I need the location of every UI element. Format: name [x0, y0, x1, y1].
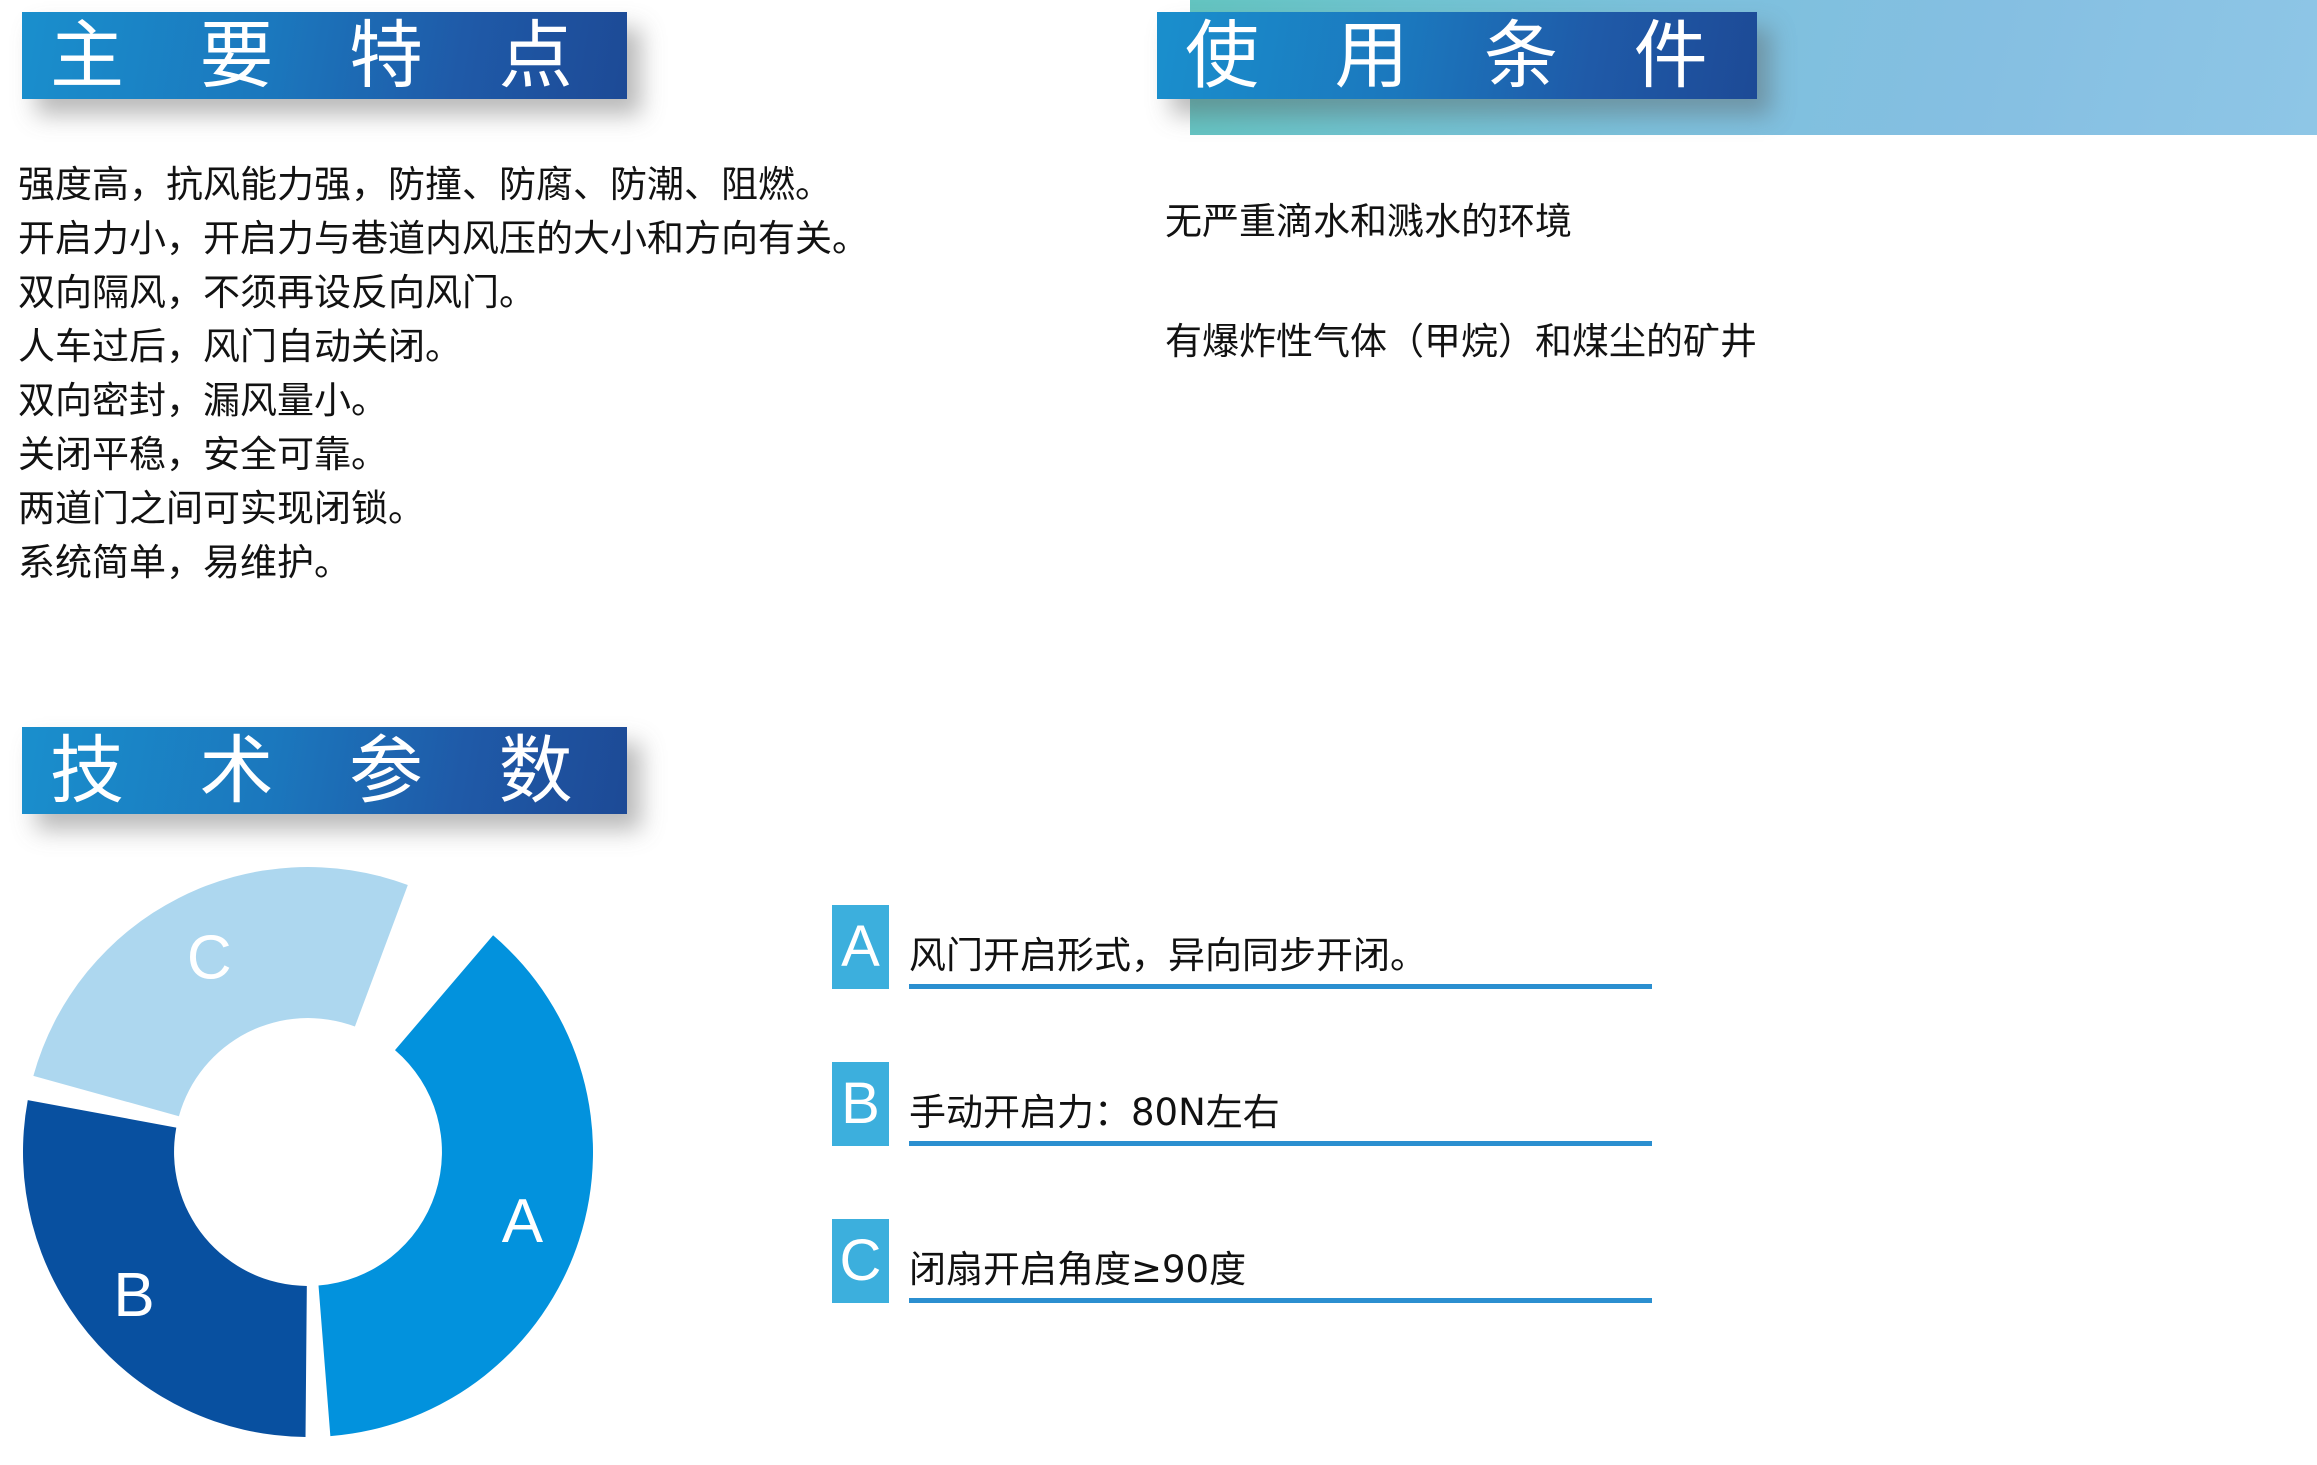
conditions-list: 无严重滴水和溅水的环境 有爆炸性气体（甲烷）和煤尘的矿井 — [1165, 198, 2165, 366]
section-header-conditions: 使 用 条 件 — [1157, 12, 1757, 99]
feature-item: 两道门之间可实现闭锁。 — [18, 482, 1018, 536]
legend-body-b: 手动开启力：80N左右 — [909, 1062, 1652, 1146]
feature-item: 双向密封，漏风量小。 — [18, 374, 1018, 428]
section-header-features: 主 要 特 点 — [22, 12, 627, 99]
section-header-features-label: 主 要 特 点 — [22, 19, 599, 93]
donut-segment-label-a: A — [502, 1187, 544, 1256]
legend-body-c: 闭扇开启角度≥90度 — [909, 1219, 1652, 1303]
donut-segment-label-b: B — [113, 1261, 154, 1330]
legend-badge-c: C — [832, 1219, 889, 1303]
section-header-parameters-label: 技 术 参 数 — [22, 734, 599, 808]
legend-text-c: 闭扇开启角度≥90度 — [909, 1248, 1652, 1292]
legend-text-a: 风门开启形式，异向同步开闭。 — [909, 934, 1652, 978]
feature-item: 人车过后，风门自动关闭。 — [18, 320, 1018, 374]
legend-text-b: 手动开启力：80N左右 — [909, 1091, 1652, 1135]
parameters-legend: A 风门开启形式，异向同步开闭。 B 手动开启力：80N左右 C 闭扇开启角度≥… — [832, 905, 1652, 1303]
feature-item: 开启力小，开启力与巷道内风压的大小和方向有关。 — [18, 212, 1018, 266]
legend-body-a: 风门开启形式，异向同步开闭。 — [909, 905, 1652, 989]
condition-item: 无严重滴水和溅水的环境 — [1165, 198, 2165, 246]
feature-item: 关闭平稳，安全可靠。 — [18, 428, 1018, 482]
condition-item: 有爆炸性气体（甲烷）和煤尘的矿井 — [1165, 318, 2165, 366]
feature-item: 双向隔风，不须再设反向风门。 — [18, 266, 1018, 320]
feature-item: 系统简单，易维护。 — [18, 536, 1018, 590]
section-header-conditions-label: 使 用 条 件 — [1157, 19, 1734, 93]
features-list: 强度高，抗风能力强，防撞、防腐、防潮、阻燃。 开启力小，开启力与巷道内风压的大小… — [18, 158, 1018, 590]
legend-item-c[interactable]: C 闭扇开启角度≥90度 — [832, 1219, 1652, 1303]
legend-item-a[interactable]: A 风门开启形式，异向同步开闭。 — [832, 905, 1652, 989]
donut-segment-label-c: C — [187, 924, 232, 993]
legend-badge-b: B — [832, 1062, 889, 1146]
legend-item-b[interactable]: B 手动开启力：80N左右 — [832, 1062, 1652, 1146]
donut-chart-svg: A B C — [18, 862, 598, 1442]
donut-segment-b[interactable] — [23, 1100, 307, 1437]
section-header-parameters: 技 术 参 数 — [22, 727, 627, 814]
parameters-donut-chart: A B C — [18, 862, 598, 1442]
feature-item: 强度高，抗风能力强，防撞、防腐、防潮、阻燃。 — [18, 158, 1018, 212]
legend-badge-a: A — [832, 905, 889, 989]
